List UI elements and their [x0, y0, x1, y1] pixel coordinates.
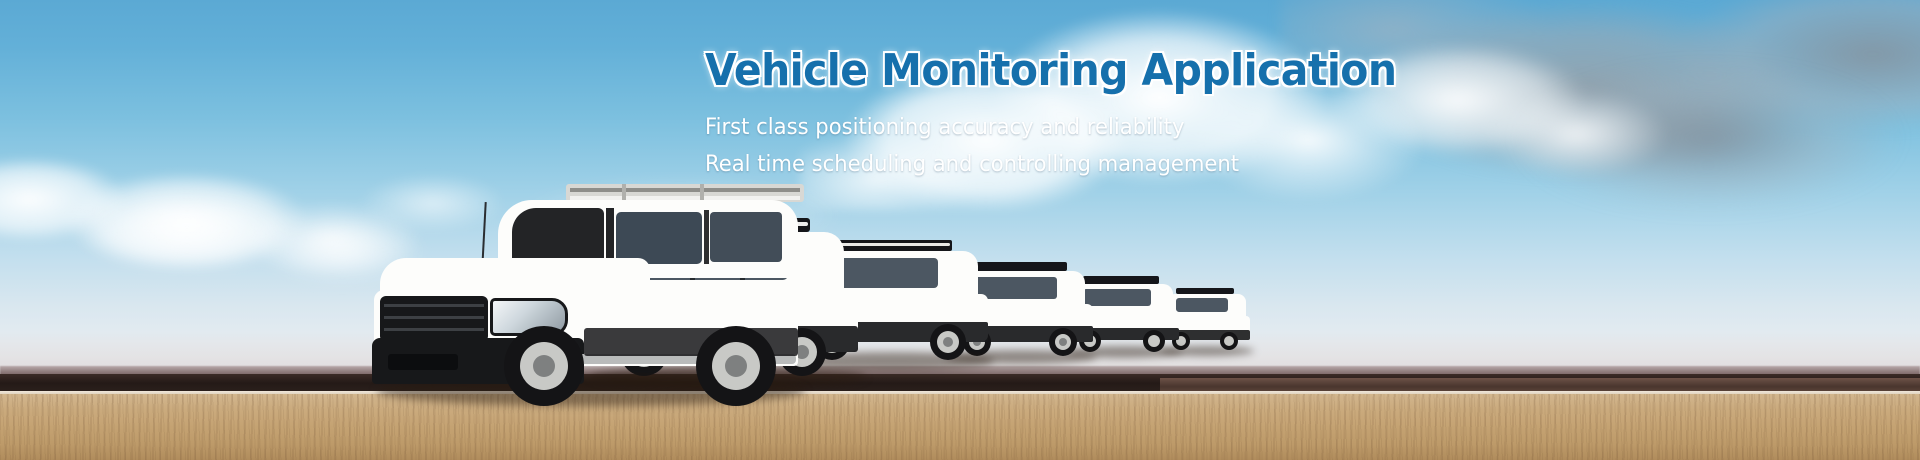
- ground-gravel-texture: [0, 394, 1920, 460]
- banner-text-block: Vehicle Monitoring Application First cla…: [705, 46, 1605, 181]
- side-window: [616, 212, 702, 264]
- subtitle-line-1: First class positioning accuracy and rel…: [705, 112, 1569, 144]
- hero-banner: Vehicle Monitoring Application First cla…: [0, 0, 1920, 460]
- vehicle-1-lead: [370, 178, 800, 408]
- dark-horizon-band-right: [1160, 378, 1920, 392]
- grille-icon: [380, 296, 488, 342]
- subtitle-line-2: Real time scheduling and controlling man…: [705, 149, 1569, 181]
- page-title: Vehicle Monitoring Application: [705, 46, 1542, 96]
